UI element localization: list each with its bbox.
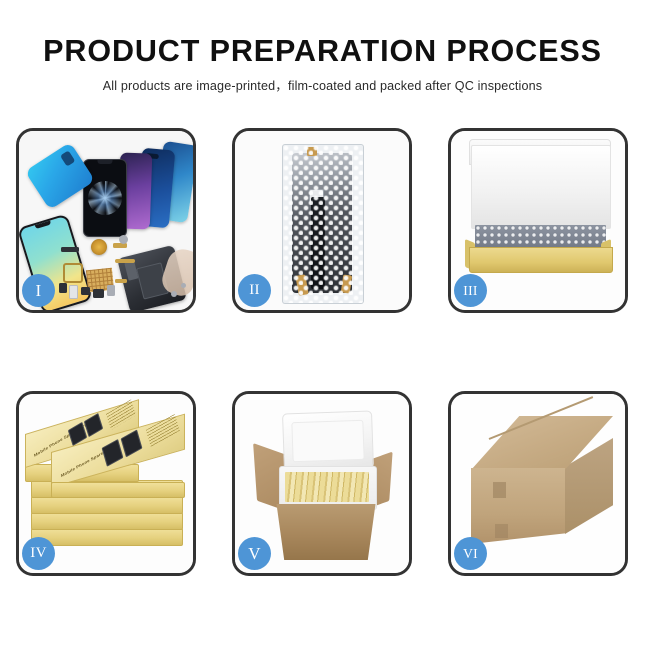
styrofoam-lid-icon [282,410,374,471]
screw-icon [181,283,186,288]
step-numeral-badge: II [238,274,271,307]
kraft-box-front-icon [469,247,613,273]
flex-cable-icon [115,259,135,263]
process-step-card-6[interactable]: VI [448,391,628,576]
process-step-card-2[interactable]: II [232,128,412,313]
carton-tab-icon [495,524,508,538]
carton-front-face [471,468,565,544]
process-step-grid: I II III [0,0,645,645]
box-lid-text-lines [106,399,136,430]
yellow-boxes-icon [285,472,369,502]
box-lid-screen-image [84,413,103,437]
process-step-card-4[interactable]: Mobile Phone Spare Parts Mobile Phone Sp… [16,391,196,576]
screw-icon [171,291,177,297]
step-numeral-badge: V [238,537,271,570]
foam-insert-icon [471,145,611,229]
step-numeral-badge: IV [22,537,55,570]
spare-part-icon [119,235,128,244]
box-stack-icon: Mobile Phone Spare Parts Mobile Phone Sp… [25,408,191,558]
process-step-card-3[interactable]: III [448,128,628,313]
step-numeral-badge: I [22,274,55,307]
carton-tab-icon [493,482,506,498]
box-lid-screen-image [121,429,143,457]
stacked-box-edge [31,496,183,514]
box-lid-screen-image [102,439,124,467]
stacked-box-edge [31,512,183,530]
stacked-box-edge [31,528,183,546]
speaker-coil-icon [91,239,107,255]
stacked-box-edge [51,482,185,498]
bubble-wrap-package-icon [282,144,364,304]
box-lid-text-lines [146,414,180,448]
process-step-card-1[interactable]: I [16,128,196,313]
process-step-card-5[interactable]: V [232,391,412,576]
step-numeral-badge: III [454,274,487,307]
phone-screen-icon [83,159,127,237]
spare-part-icon [61,247,79,252]
spare-part-icon [81,287,90,295]
frame-part-icon [63,263,83,283]
spare-part-icon [107,285,115,296]
spare-part-icon [115,279,127,283]
camera-module-icon [93,289,104,298]
sim-tray-icon [69,285,78,299]
step-numeral-badge: VI [454,537,487,570]
spare-part-icon [59,283,67,293]
carton-body-icon [271,504,381,560]
